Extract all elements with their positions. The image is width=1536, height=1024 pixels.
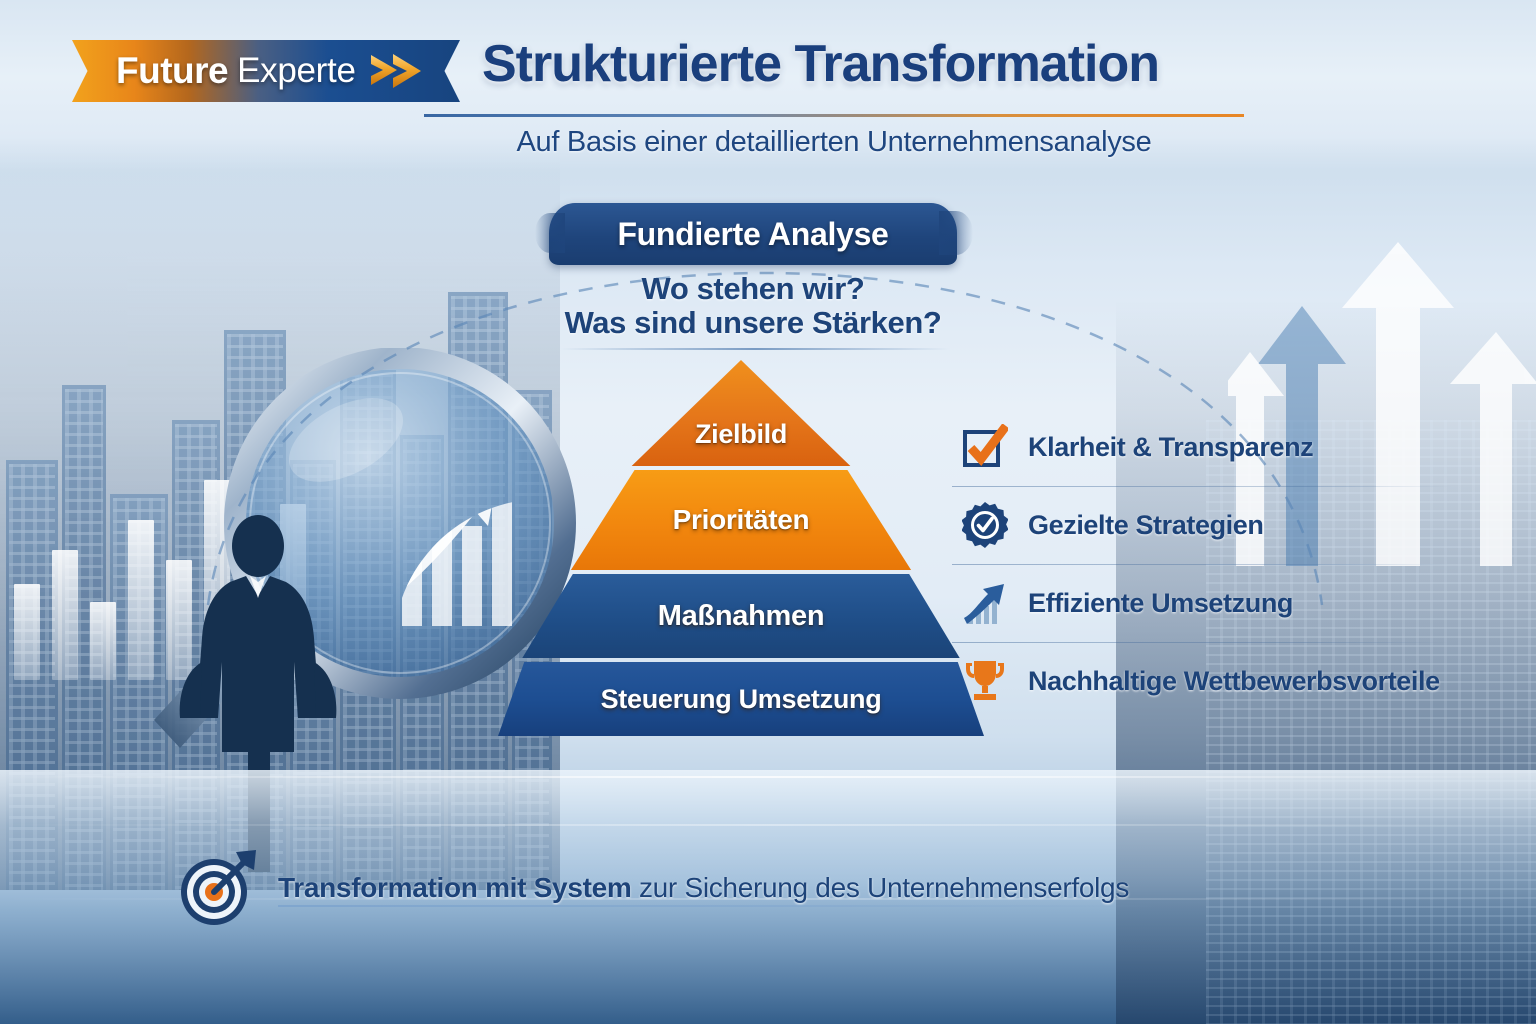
target-dartboard-icon [176,846,260,930]
brand-word-future: Future [116,50,228,92]
checkbox-check-icon [962,424,1008,470]
pyramid-level-4[interactable]: Steuerung Umsetzung [498,662,984,736]
benefit-label: Effiziente Umsetzung [1028,588,1293,619]
list-item[interactable]: Klarheit & Transparenz [962,408,1482,486]
analysis-banner: Fundierte Analyse [549,203,957,265]
trophy-icon [962,658,1008,704]
strategy-pyramid: Zielbild Prioritäten Maßnahmen Steuerung… [498,360,984,738]
pyramid-level-3-label: Maßnahmen [658,600,825,633]
pyramid-level-1[interactable]: Zielbild [498,360,984,466]
pyramid-level-2-label: Prioritäten [673,504,810,536]
benefit-label: Gezielte Strategien [1028,510,1263,541]
footer-text: Transformation mit System zur Sicherung … [278,872,1129,904]
infographic-canvas: Future Experte [0,0,1536,1024]
page-subtitle: Auf Basis einer detaillierten Unternehme… [424,126,1244,159]
list-item[interactable]: Effiziente Umsetzung [962,564,1482,642]
footer-text-strong: Transformation mit System [278,872,631,903]
brand-logo[interactable]: Future Experte [72,40,460,102]
benefits-list: Klarheit & Transparenz Gezielte Strategi… [962,408,1482,720]
list-item[interactable]: Nachhaltige Wettbewerbsvorteile [962,642,1482,720]
pyramid-level-2[interactable]: Prioritäten [498,470,984,570]
brand-word-experte: Experte [237,51,356,91]
question-divider [560,348,950,350]
footer-statement: Transformation mit System zur Sicherung … [176,845,1176,931]
question-two: Was sind unsere Stärken? [440,305,1066,341]
benefit-label: Nachhaltige Wettbewerbsvorteile [1028,666,1440,697]
growth-arrow-chart-icon [962,580,1008,626]
footer-text-rest: zur Sicherung des Unternehmenserfolgs [631,872,1129,903]
gear-check-icon [962,502,1008,548]
page-title: Strukturierte Transformation [482,34,1242,94]
list-item[interactable]: Gezielte Strategien [962,486,1482,564]
question-one: Wo stehen wir? [440,271,1066,307]
footer-divider [278,905,1158,907]
banner-label: Fundierte Analyse [549,203,957,265]
arrow-right-icon [367,51,423,91]
page-header: Future Experte [0,0,1536,172]
pyramid-level-3[interactable]: Maßnahmen [498,574,984,658]
pyramid-level-1-label: Zielbild [695,419,787,450]
pyramid-level-4-label: Steuerung Umsetzung [601,684,882,715]
title-underline [424,114,1244,117]
benefit-label: Klarheit & Transparenz [1028,432,1313,463]
